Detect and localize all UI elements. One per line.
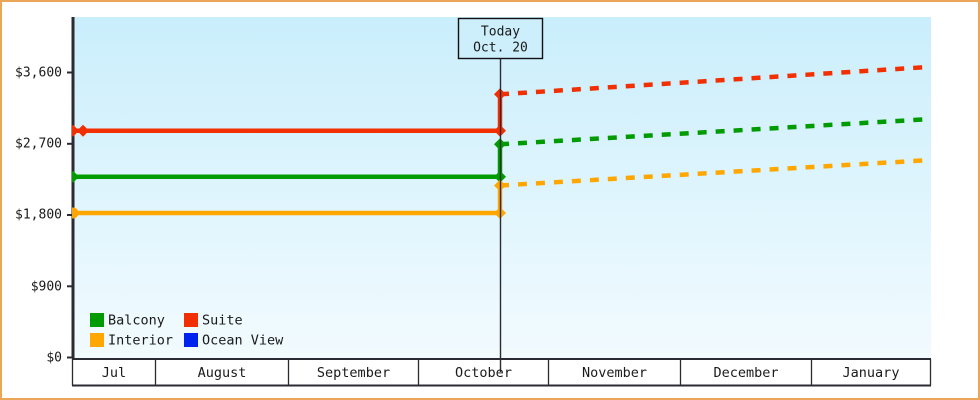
y-tick-label-0: $0	[46, 351, 62, 366]
month-label-october: October	[455, 365, 512, 381]
today-callout: Today Oct. 20	[459, 19, 543, 59]
y-tick-label-900: $900	[31, 280, 62, 295]
legend-label-suite: Suite	[202, 313, 243, 329]
legend-label-interior: Interior	[108, 333, 173, 349]
legend-swatch-balcony	[90, 313, 104, 327]
legend-swatch-interior	[90, 333, 104, 347]
month-label-august: August	[198, 365, 247, 381]
legend-label-balcony: Balcony	[108, 313, 165, 329]
month-label-jul: Jul	[102, 365, 126, 381]
series-interior-marker-start	[68, 208, 79, 219]
cruise-price-chart: $0 $900 $1,800 $2,700 $3,600	[0, 0, 980, 400]
y-tick-label-1800: $1,800	[15, 208, 62, 223]
legend-swatch-suite	[184, 313, 198, 327]
month-label-november: November	[582, 365, 647, 381]
today-callout-line1: Today	[481, 25, 520, 40]
month-label-september: September	[317, 365, 390, 381]
month-label-january: January	[843, 365, 900, 381]
legend-label-ocean-view: Ocean View	[202, 333, 284, 349]
y-tick-label-3600: $3,600	[15, 66, 62, 81]
today-callout-line2: Oct. 20	[473, 41, 528, 56]
legend-swatch-ocean-view	[184, 333, 198, 347]
month-label-december: December	[713, 365, 778, 381]
month-axis: Jul August September October November De…	[72, 359, 931, 386]
chart-canvas: $0 $900 $1,800 $2,700 $3,600	[0, 0, 980, 400]
y-tick-label-2700: $2,700	[15, 137, 62, 152]
